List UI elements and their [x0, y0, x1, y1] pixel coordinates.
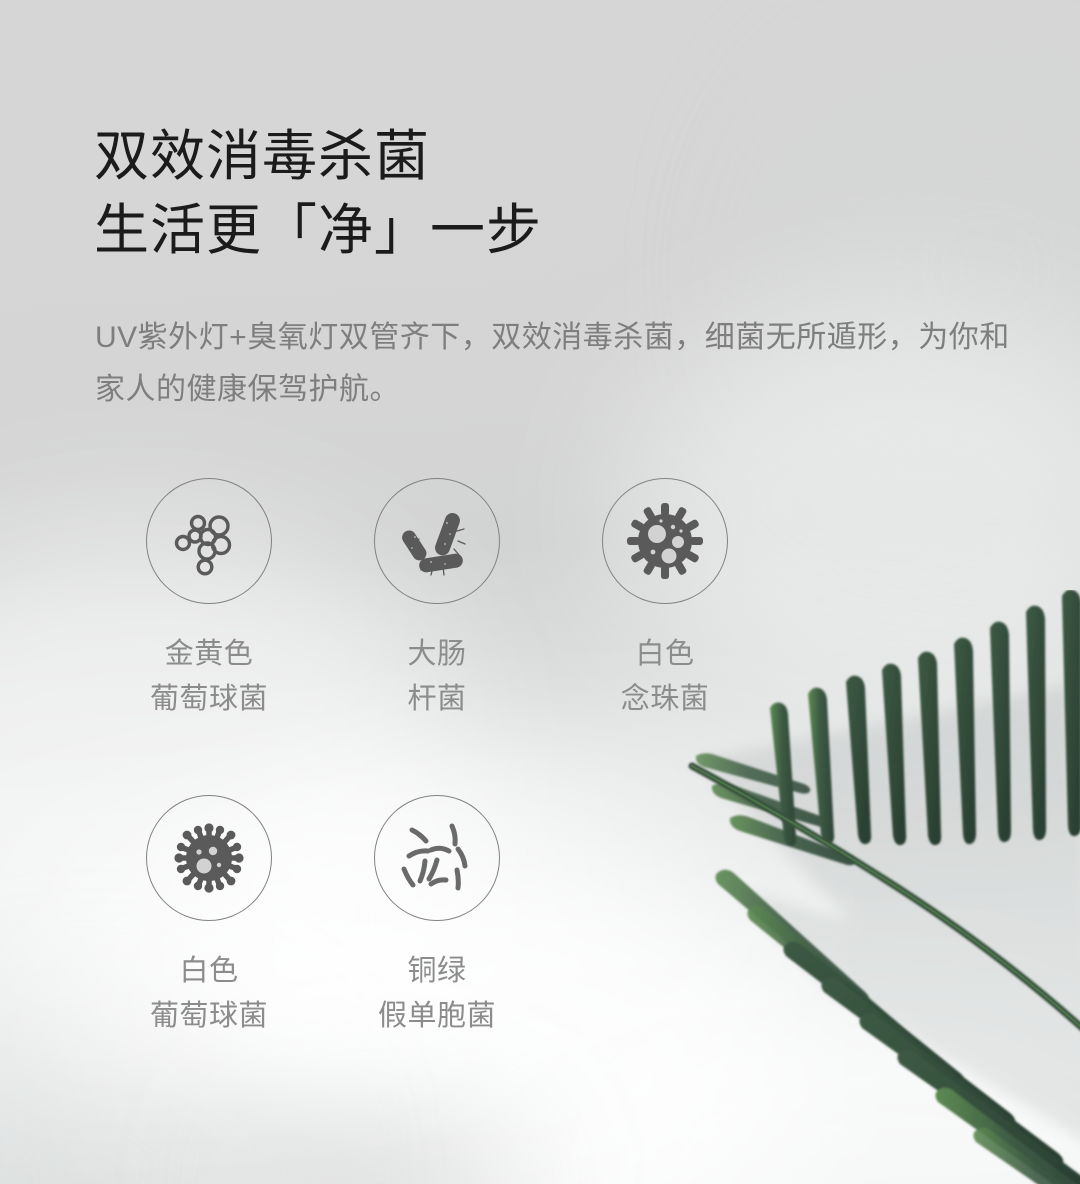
germ-item-ecoli: 大肠 杆菌 — [323, 478, 551, 722]
pseudomonas-aeruginosa-icon — [395, 816, 479, 900]
candida-albicans-icon — [625, 501, 705, 581]
germ-row: 金黄色 葡萄球菌 — [95, 478, 795, 722]
staphylococcus-epidermidis-icon — [169, 818, 249, 898]
germ-label: 大肠 杆菌 — [407, 632, 466, 722]
germ-circle — [374, 478, 500, 604]
page-title: 双效消毒杀菌 生活更「净」一步 — [94, 119, 542, 267]
germ-label: 白色 念珠菌 — [621, 632, 710, 722]
germ-item-candida: 白色 念珠菌 — [551, 478, 779, 722]
germ-label: 白色 葡萄球菌 — [150, 949, 268, 1039]
germ-circle — [146, 478, 272, 604]
germ-circle — [146, 795, 272, 921]
germ-grid: 金黄色 葡萄球菌 — [95, 478, 795, 1039]
germ-label: 金黄色 葡萄球菌 — [150, 632, 268, 722]
page-description: UV紫外灯+臭氧灯双管齐下，双效消毒杀菌，细菌无所遁形，为你和家人的健康保驾护航… — [95, 312, 1015, 416]
germ-item-pseudomonas: 铜绿 假单胞菌 — [323, 795, 551, 1039]
germ-item-staphylococcus-aureus: 金黄色 葡萄球菌 — [95, 478, 323, 722]
germ-circle — [602, 478, 728, 604]
ecoli-rod-icon — [397, 501, 477, 581]
germ-circle — [374, 795, 500, 921]
germ-item-staphylococcus-epidermidis: 白色 葡萄球菌 — [95, 795, 323, 1039]
germ-row: 白色 葡萄球菌 — [95, 795, 795, 1039]
staphylococcus-aureus-icon — [169, 501, 249, 581]
product-feature-page: 双效消毒杀菌 生活更「净」一步 UV紫外灯+臭氧灯双管齐下，双效消毒杀菌，细菌无… — [0, 0, 1080, 1184]
germ-label: 铜绿 假单胞菌 — [378, 949, 496, 1039]
